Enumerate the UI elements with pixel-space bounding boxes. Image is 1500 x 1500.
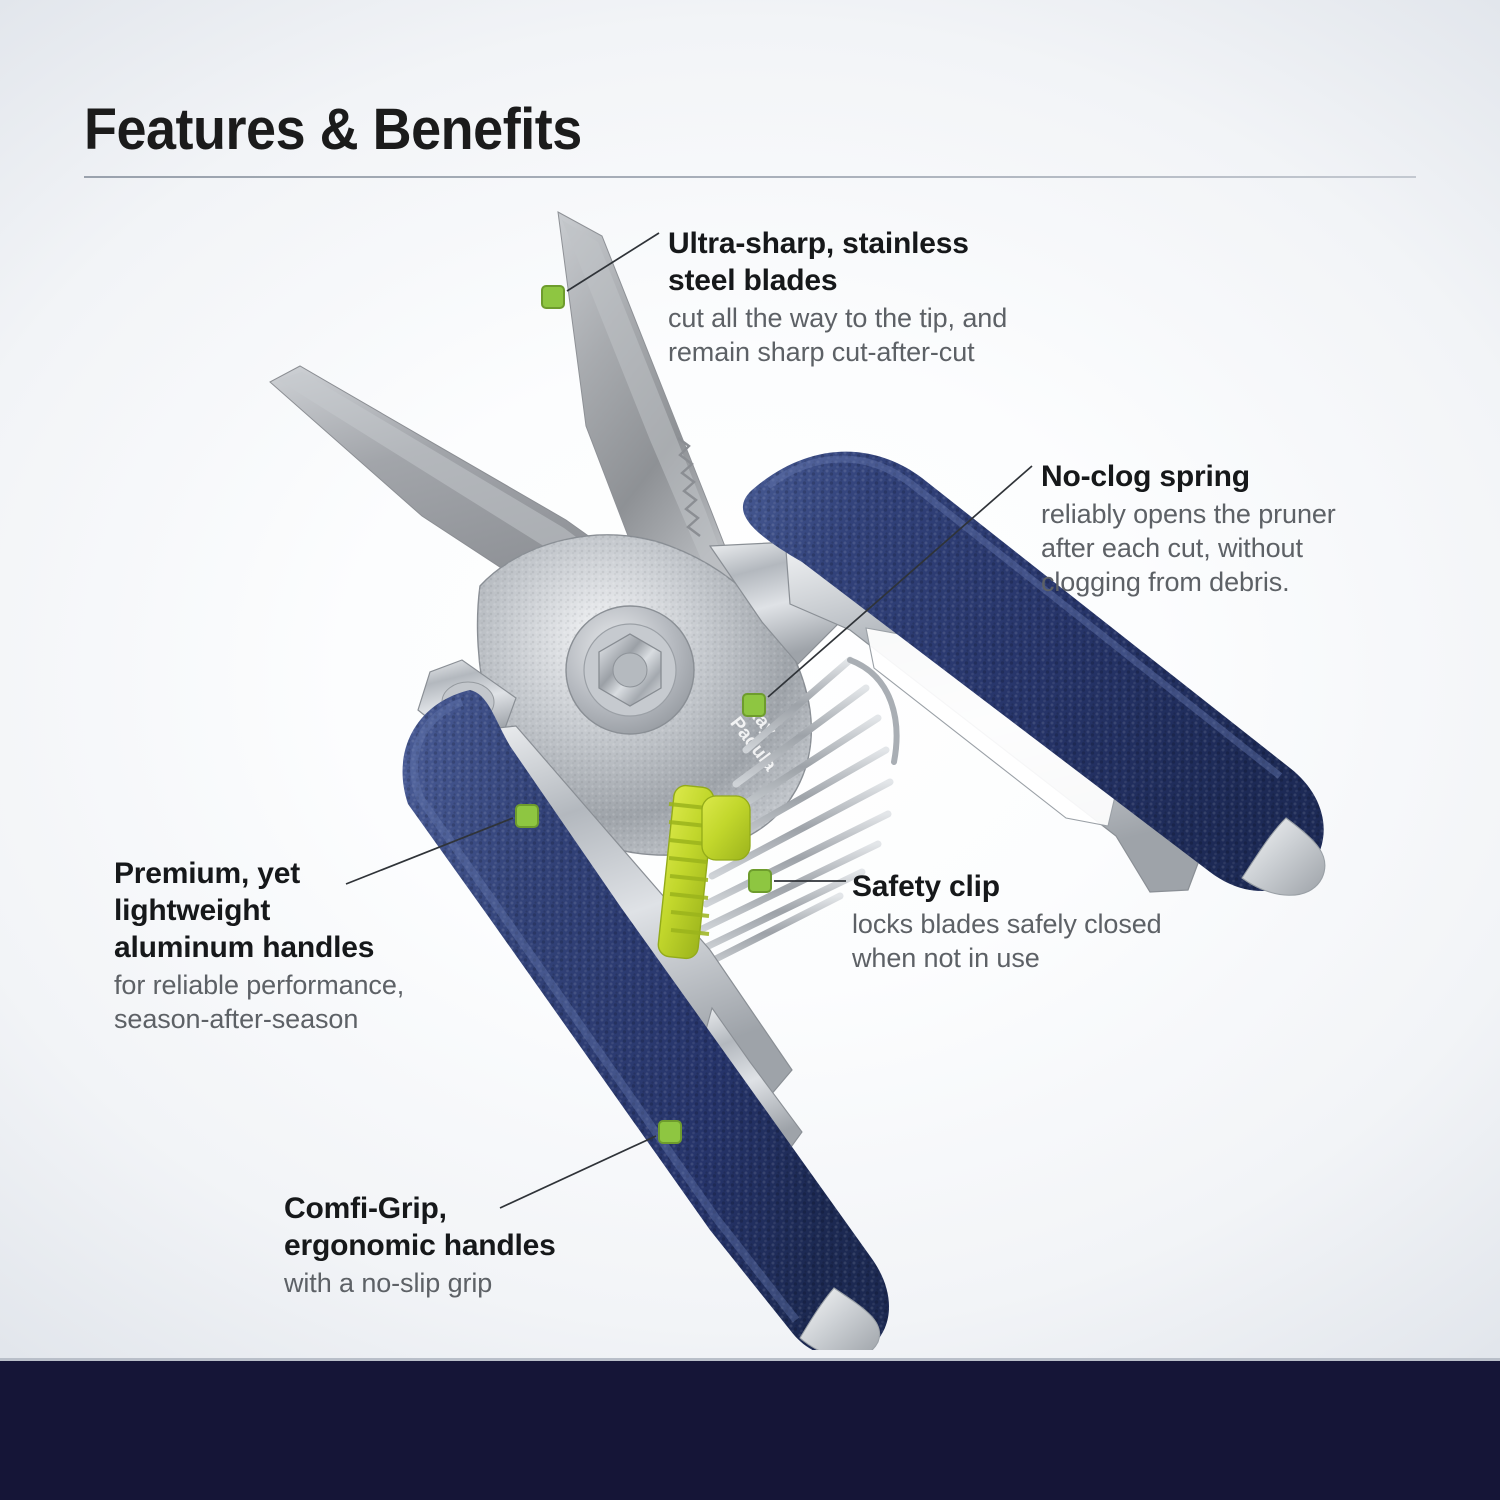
blade-lower	[270, 366, 670, 634]
leader-line-spring	[768, 466, 1032, 697]
leader-line-blades	[567, 233, 659, 291]
marker-square-safety[interactable]	[748, 869, 772, 893]
callout-aluminum: Premium, yet lightweight aluminum handle…	[114, 855, 494, 1036]
callout-aluminum-body: for reliable performance, season-after-s…	[114, 968, 494, 1036]
pivot-casting	[418, 535, 850, 855]
marker-square-aluminum[interactable]	[515, 804, 539, 828]
callout-blades-heading: Ultra-sharp, stainless steel blades	[668, 225, 1068, 299]
callout-safety-body: locks blades safely closed when not in u…	[852, 907, 1182, 975]
infographic-page: Features & Benefits	[0, 0, 1500, 1500]
callout-blades: Ultra-sharp, stainless steel blades cut …	[668, 225, 1068, 369]
callout-safety: Safety clip locks blades safely closed w…	[852, 868, 1182, 975]
page-title: Features & Benefits	[84, 96, 582, 163]
spring-anchor	[658, 660, 897, 1036]
callout-comfi-heading: Comfi-Grip, ergonomic handles	[284, 1190, 664, 1264]
callout-spring-heading: No-clog spring	[1041, 458, 1371, 495]
marker-square-blades[interactable]	[541, 285, 565, 309]
callout-spring-body: reliably opens the pruner after each cut…	[1041, 497, 1371, 599]
header: Features & Benefits	[0, 0, 1500, 190]
title-divider	[84, 176, 1416, 178]
callout-comfi: Comfi-Grip, ergonomic handles with a no-…	[284, 1190, 664, 1300]
callout-aluminum-heading: Premium, yet lightweight aluminum handle…	[114, 855, 494, 966]
callout-safety-heading: Safety clip	[852, 868, 1182, 905]
marker-square-comfi[interactable]	[658, 1120, 682, 1144]
safety-clip	[657, 784, 750, 959]
footer-band	[0, 1358, 1500, 1500]
callout-blades-body: cut all the way to the tip, and remain s…	[668, 301, 1068, 369]
svg-text:Padula: Padula	[726, 713, 781, 775]
callout-spring: No-clog spring reliably opens the pruner…	[1041, 458, 1371, 599]
callout-comfi-body: with a no-slip grip	[284, 1266, 664, 1300]
pivot-bolt	[566, 606, 694, 734]
marker-square-spring[interactable]	[742, 693, 766, 717]
